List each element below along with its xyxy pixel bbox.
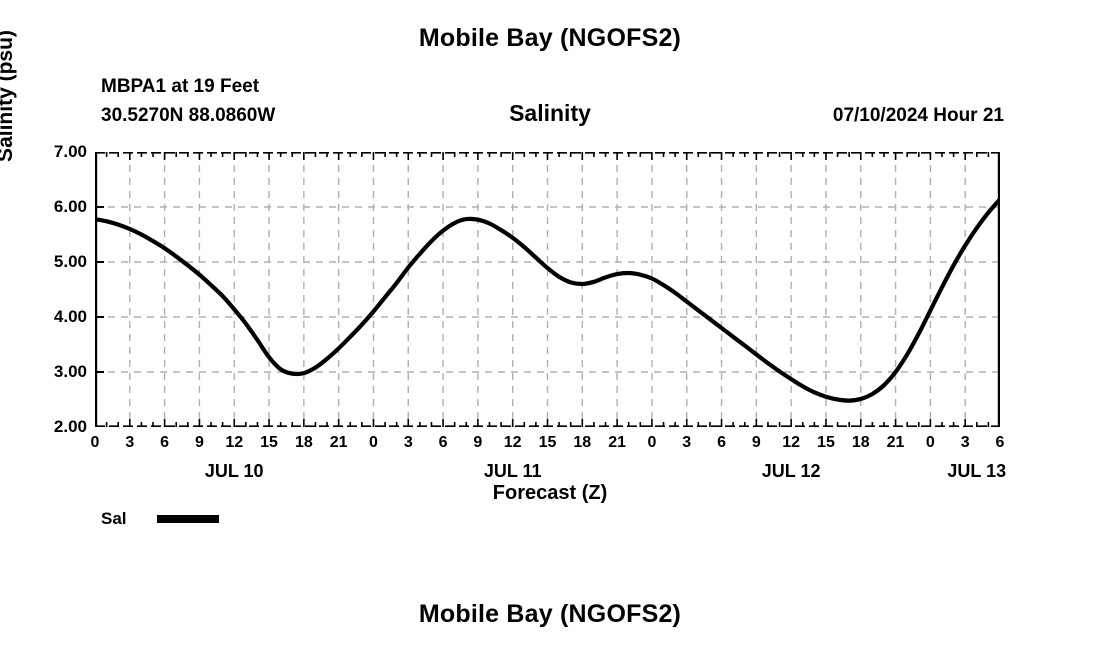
x-tick-label: 18 [289, 434, 319, 452]
x-tick-label: 0 [915, 434, 945, 452]
x-axis-title: Forecast (Z) [0, 482, 1100, 505]
x-tick-label: 3 [115, 434, 145, 452]
chart-page: Mobile Bay (NGOFS2) MBPA1 at 19 Feet 30.… [0, 0, 1100, 650]
salinity-line-chart [95, 152, 1000, 427]
x-tick-label: 9 [463, 434, 493, 452]
x-tick-label: 21 [602, 434, 632, 452]
y-axis-title: Salinity (psu) [0, 0, 18, 196]
x-tick-label: 18 [846, 434, 876, 452]
x-axis-day-label: JUL 11 [443, 461, 583, 482]
x-tick-label: 6 [707, 434, 737, 452]
legend-label-sal: Sal [101, 509, 153, 529]
x-tick-label: 12 [776, 434, 806, 452]
station-label: MBPA1 at 19 Feet [101, 76, 259, 98]
x-tick-label: 3 [672, 434, 702, 452]
page-title-top: Mobile Bay (NGOFS2) [0, 24, 1100, 53]
x-tick-label: 15 [811, 434, 841, 452]
x-tick-label: 9 [741, 434, 771, 452]
legend: Sal [101, 509, 219, 529]
x-tick-label: 12 [498, 434, 528, 452]
x-tick-label: 6 [985, 434, 1015, 452]
x-tick-label: 3 [393, 434, 423, 452]
x-axis-day-label: JUL 12 [721, 461, 861, 482]
x-tick-label: 12 [219, 434, 249, 452]
y-tick-label: 4.00 [25, 307, 87, 327]
x-tick-label: 0 [80, 434, 110, 452]
x-tick-label: 18 [567, 434, 597, 452]
x-tick-label: 0 [358, 434, 388, 452]
y-tick-label: 2.00 [25, 417, 87, 437]
y-tick-label: 5.00 [25, 252, 87, 272]
x-tick-label: 3 [950, 434, 980, 452]
y-tick-label: 3.00 [25, 362, 87, 382]
x-axis-day-label: JUL 10 [164, 461, 304, 482]
y-tick-label: 7.00 [25, 142, 87, 162]
x-axis-day-label: JUL 13 [907, 461, 1047, 482]
x-tick-label: 0 [637, 434, 667, 452]
plot-area [95, 152, 1000, 427]
x-tick-label: 21 [324, 434, 354, 452]
x-tick-label: 9 [184, 434, 214, 452]
y-tick-label: 6.00 [25, 197, 87, 217]
x-tick-label: 21 [881, 434, 911, 452]
x-tick-label: 6 [428, 434, 458, 452]
page-title-bottom: Mobile Bay (NGOFS2) [0, 600, 1100, 629]
x-tick-label: 6 [150, 434, 180, 452]
x-tick-label: 15 [254, 434, 284, 452]
forecast-datetime-label: 07/10/2024 Hour 21 [833, 105, 1004, 127]
legend-swatch-sal [157, 515, 219, 523]
x-tick-label: 15 [533, 434, 563, 452]
